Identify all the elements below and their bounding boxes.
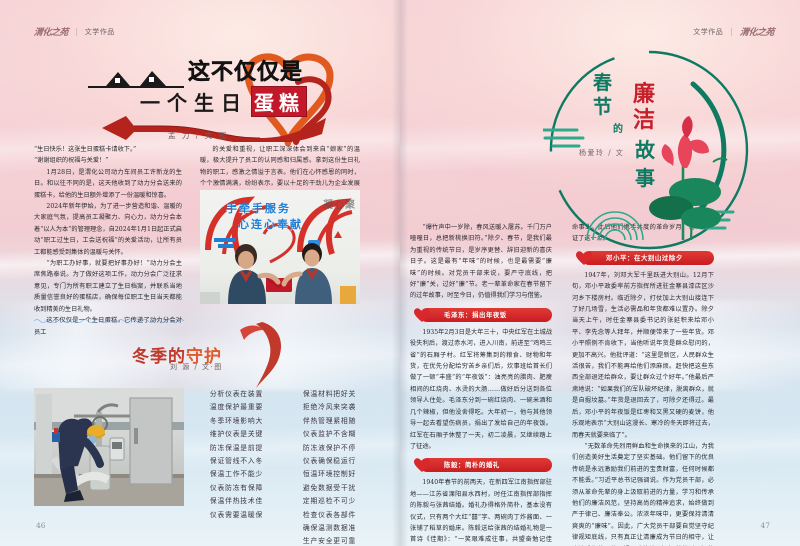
article2-title-block: 冬季的守护	[128, 334, 268, 380]
masthead-separator: |	[75, 27, 78, 36]
article1-paragraph: “生日快乐！这张生日蛋糕卡请收下。”	[34, 144, 182, 155]
poem-line: 防冻液保护不停	[291, 442, 368, 455]
article3-intro-paragraph: “爆竹声中一岁除，春风送暖入屠苏。千门万户曈曈日，总把新桃换旧符。”除夕、春节，…	[410, 222, 552, 302]
masthead-section-label: 文学作品	[693, 27, 723, 37]
article3-paragraph: 1935年2月3日是大年三十，中央红军在土城战役失利后，渡过赤水河，进入川南，前…	[410, 327, 552, 452]
rooftop-silhouette-icon	[88, 66, 184, 88]
emblem-char-shi: 事	[635, 162, 655, 191]
worker-inspecting-equipment-photo	[34, 388, 184, 506]
emblem-char-chun: 春	[593, 68, 612, 95]
poem-line: 定期巡检不可少	[291, 495, 368, 508]
article3-column-2: 命事业。此后他们携手共度的革命岁月，也一再见证了这一点。 邓小平：在大别山过除夕…	[572, 222, 714, 546]
article3-paragraph: “无数革命先烈用鲜血和生命换来的江山，为我们创造美好生活奠定了坚实基础。他们留下…	[572, 441, 714, 546]
emblem-char-jie: 节	[593, 92, 612, 119]
page-number-left: 46	[36, 521, 46, 530]
left-page: 渭化之苑 | 文学作品 这不仅仅是 一个生日蛋糕 孟	[0, 0, 400, 546]
page-number-right: 47	[760, 521, 770, 530]
heart-icon	[414, 308, 430, 323]
article1-paragraph: 2024年新年伊始，为了进一步营造和谐、温暖的大家庭气氛，提高员工凝聚力、向心力…	[34, 201, 182, 258]
poem-line: 保温工作不能少	[198, 468, 275, 481]
publication-logo: 渭化之苑	[739, 25, 774, 38]
article3-byline: 杨爱玲 / 文	[579, 148, 624, 158]
poem-line: 维护仪表是关键	[198, 428, 275, 441]
photo1-two-men	[200, 242, 360, 304]
masthead-right: 文学作品 | 渭化之苑	[693, 25, 774, 38]
emblem-char-de: 的	[613, 120, 623, 135]
emblem-char-qing: 洁	[633, 102, 655, 134]
poem-line: 仪表监护不含糊	[291, 428, 368, 441]
poem-column-right: 保温材料把好关 拒绝冷风来突袭 伴热管理紧相随 仪表监护不含糊 防冻液保护不停 …	[291, 388, 368, 546]
poem-line: 拒绝冷风来突袭	[291, 401, 368, 414]
poem-line: 伴热管理紧相随	[291, 415, 368, 428]
poem-line: 确保温测数据准	[291, 522, 368, 535]
red-swoosh-graphic	[232, 320, 292, 390]
poem-line: 仪表防冻有保障	[198, 482, 275, 495]
poem-line: 分析仪表在装置	[198, 388, 275, 401]
poem-line: 保证管线不入冬	[198, 455, 275, 468]
poem-line: 恒温环境控制好	[291, 468, 368, 481]
article1-paragraph: “为职工办好事，就要把好事办好！”动力分会主席焦路泰说。为了做好这项工作，动力分…	[34, 258, 182, 315]
poem-line: 保温材料把好关	[291, 388, 368, 401]
section-heading-banner: 毛泽东：捐出年夜饭	[410, 308, 552, 323]
article3-paragraph: 1947年，刘邓大军千里跃进大别山。12月下旬，邓小平政委率前方指挥所进驻金寨县…	[572, 270, 714, 441]
section-heading-text: 毛泽东：捐出年夜饭	[444, 310, 507, 319]
poem-line: 生产安全更可靠	[291, 535, 368, 546]
right-page: 文学作品 | 渭化之苑	[400, 0, 800, 546]
poem-line: 检查仪表各部件	[291, 509, 368, 522]
emblem-char-gu: 故	[635, 134, 655, 163]
article1-title-line1: 这不仅仅是	[188, 54, 303, 86]
article3-emblem: 春 节 的 廉 洁 故 事 杨爱玲 / 文	[543, 44, 755, 256]
magazine-spread: 渭化之苑 | 文学作品 这不仅仅是 一个生日蛋糕 孟	[0, 0, 800, 546]
article1-title-block: 这不仅仅是 一个生日蛋糕	[88, 46, 338, 138]
poem-line: 冬季环境影响大	[198, 415, 275, 428]
section-heading-banner: 陈毅：简朴的婚礼	[410, 458, 552, 473]
article3-column-1: “爆竹声中一岁除，春风送暖入屠苏。千门万户曈曈日，总把新桃换旧符。”除夕、春节，…	[410, 222, 552, 546]
poem-line: 防冻保温是前提	[198, 442, 275, 455]
article1-paragraph: “谢谢组织的祝福与关爱！”	[34, 155, 182, 166]
article2-photo	[34, 388, 184, 506]
article3-paragraph: 1940年春节的前两天，在新四军江南指挥部驻地——江苏省溧阳县水西村，时任江南指…	[410, 477, 552, 546]
article1-photo: 凝心聚 手牵手服务 心连心奉献	[200, 190, 360, 304]
poem-column-left: 分析仪表在装置 温度保护最重要 冬季环境影响大 维护仪表是关键 防冻保温是前提 …	[198, 388, 275, 546]
section-heading-text: 陈毅：简朴的婚礼	[444, 460, 500, 469]
poem-line: 仪表确保稳运行	[291, 455, 368, 468]
article2-byline: 刘 源 / 文·图	[170, 362, 223, 372]
article1-column-1: “生日快乐！这张生日蛋糕卡请收下。” “谢谢组织的祝福与关爱！” 1月28日，是…	[34, 144, 182, 338]
masthead-section-label: 文学作品	[85, 27, 115, 37]
photo1-caption-line1: 手牵手服务	[226, 200, 291, 216]
publication-logo: 渭化之苑	[33, 25, 68, 38]
heart-icon	[414, 458, 430, 473]
masthead-separator: |	[730, 27, 733, 36]
masthead-left: 渭化之苑 | 文学作品	[34, 25, 115, 38]
section-divider	[34, 318, 184, 324]
article2-poem: 分析仪表在装置 温度保护最重要 冬季环境影响大 维护仪表是关键 防冻保温是前提 …	[198, 388, 368, 546]
poem-line: 仪表需要温暖保	[198, 509, 275, 522]
article1-paragraph: 1月28日，是渭化公司动力车间员工许新龙的生日。和以往不同的是，这天他收到了动力…	[34, 167, 182, 201]
poem-line: 保温伴热技术佳	[198, 495, 275, 508]
article1-byline: 孟 力 / 文·图	[168, 130, 228, 141]
poem-line: 温度保护最重要	[198, 401, 275, 414]
photo1-caption-line2: 心连心奉献	[238, 216, 303, 232]
photo1-corner-text: 凝心聚	[323, 196, 356, 211]
poem-line: 避免数据受干扰	[291, 482, 368, 495]
